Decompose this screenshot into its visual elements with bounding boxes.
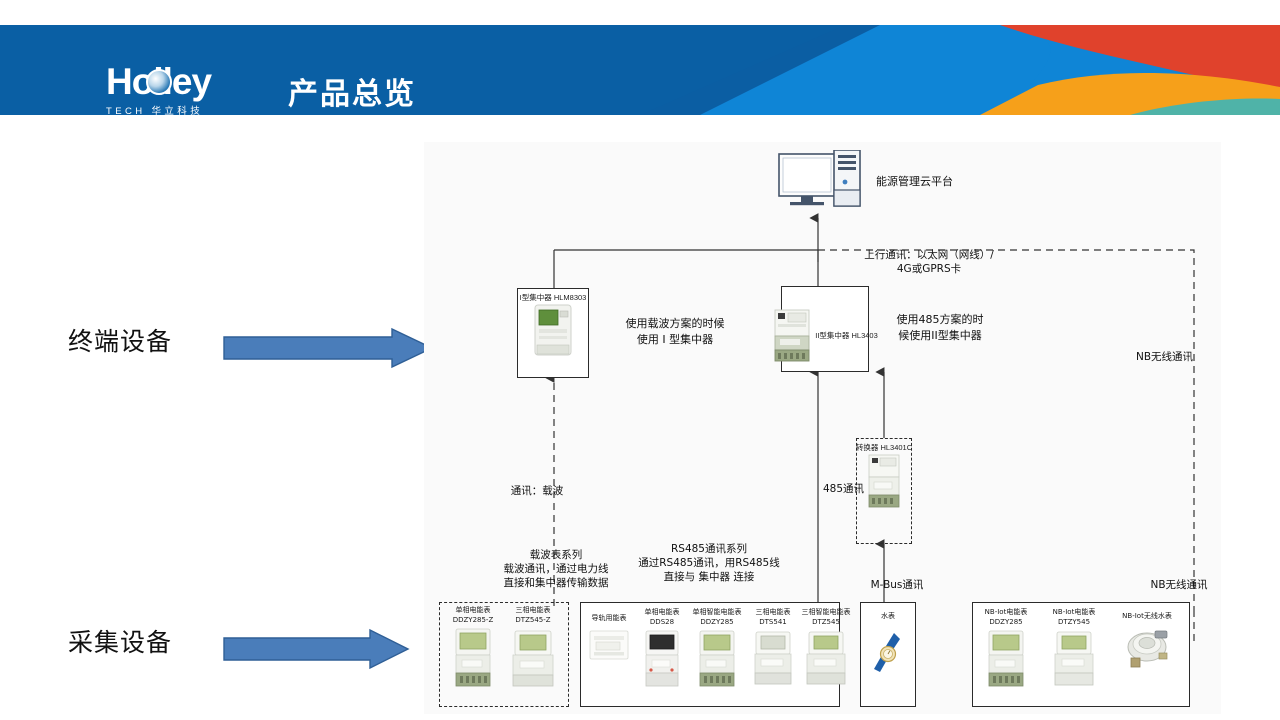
connection-label-nb-lower: NB无线通讯 — [1124, 578, 1234, 592]
meter-label: NB-Iot电能表 DTZY545 — [1053, 608, 1096, 627]
arrow-terminal-equipment — [222, 327, 436, 369]
concentrator-type2-caption: II型集中器 HL3403 — [815, 331, 878, 341]
three-phase-meter-icon — [805, 630, 847, 686]
logo-tagline: TECH 华立科技 — [106, 103, 266, 115]
meter-label: 三相智能电能表 DTZ545 — [802, 608, 851, 627]
converter-caption: 转换器 HL3401C — [856, 439, 912, 453]
single-phase-meter-dark-icon — [643, 630, 681, 688]
cloud-platform-node — [774, 150, 864, 223]
meter-label: 单相电能表 DDZY285-Z — [453, 606, 494, 625]
holley-logo: Holley TECH 华立科技 — [106, 64, 266, 115]
connection-label-carrier: 通讯：载波 — [482, 484, 592, 498]
three-phase-meter-icon — [753, 630, 793, 686]
meter-item[interactable]: 三相电能表 DTZ545-Z — [504, 606, 562, 688]
arrow-collection-equipment — [222, 628, 412, 670]
architecture-diagram: 能源管理云平台 上行通讯：以太网（网线）/ 4G或GPRS卡 I型集中器 HLM… — [424, 142, 1221, 714]
meter-item[interactable]: 三相电能表 DTS541 — [748, 608, 798, 686]
connection-label-nb-upper: NB无线通讯 — [1136, 350, 1246, 364]
nb-water-meter-icon — [1119, 625, 1175, 669]
meter-label: 导轨用能表 — [592, 614, 627, 624]
meter-label: NB-Iot电能表 DDZY285 — [985, 608, 1028, 627]
meter-item[interactable]: 水表 — [862, 612, 914, 681]
three-phase-meter-icon — [1053, 630, 1095, 688]
concentrator2-device-icon — [772, 308, 812, 364]
meter-item[interactable]: 单相电能表 DDS28 — [636, 608, 688, 688]
logo-sphere-icon — [146, 69, 172, 95]
connection-label-485: 485通讯 — [754, 482, 864, 496]
logo-wordmark: Holley — [106, 64, 266, 100]
page-header: Holley TECH 华立科技 产品总览 — [0, 25, 1280, 115]
single-phase-meter-icon — [986, 630, 1026, 688]
meter-label: 三相电能表 DTZ545-Z — [515, 606, 550, 625]
meter-item[interactable]: NB-Iot电能表 DDZY285 — [976, 608, 1036, 688]
meter-label: 单相智能电能表 DDZY285 — [693, 608, 742, 627]
connection-label-mbus: M-Bus通讯 — [842, 578, 952, 592]
meter-item[interactable]: NB-Iot电能表 DTZY545 — [1044, 608, 1104, 688]
uplink-communication-label: 上行通讯：以太网（网线）/ 4G或GPRS卡 — [814, 248, 1044, 276]
din-rail-meter-icon — [588, 627, 630, 667]
concentrator-type1-note: 使用载波方案的时候 使用 I 型集中器 — [600, 316, 750, 348]
meter-item[interactable]: 单相智能电能表 DDZY285 — [688, 608, 746, 688]
slide-page: Holley TECH 华立科技 产品总览 终端设备 采集设备 — [0, 0, 1280, 720]
section-label-terminal-equipment: 终端设备 — [68, 322, 172, 358]
meter-item[interactable]: 单相电能表 DDZY285-Z — [444, 606, 502, 688]
concentrator-type2-node[interactable]: II型集中器 HL3403 — [781, 286, 869, 372]
water-meter-icon — [868, 625, 908, 681]
meter-label: 三相电能表 DTS541 — [756, 608, 791, 627]
concentrator-type1-caption: I型集中器 HLM8303 — [520, 289, 587, 303]
meter-item[interactable]: 导轨用能表 — [584, 614, 634, 667]
single-phase-meter-icon — [697, 630, 737, 688]
cloud-platform-label: 能源管理云平台 — [876, 174, 1006, 190]
page-title: 产品总览 — [288, 69, 416, 113]
meter-label: NB-Iot无线水表 — [1122, 612, 1172, 622]
three-phase-meter-icon — [511, 628, 555, 688]
meter-item[interactable]: NB-Iot无线水表 — [1114, 612, 1180, 669]
concentrator-type1-node[interactable]: I型集中器 HLM8303 — [517, 288, 589, 378]
meter-item[interactable]: 三相智能电能表 DTZ545 — [798, 608, 854, 686]
desktop-computer-icon — [774, 150, 864, 218]
single-phase-meter-icon — [453, 628, 493, 688]
section-label-collection-equipment: 采集设备 — [68, 623, 172, 659]
converter-device-icon — [866, 453, 902, 515]
converter-node[interactable]: 转换器 HL3401C — [856, 438, 912, 544]
meter-label: 单相电能表 DDS28 — [645, 608, 680, 627]
meter-label: 水表 — [881, 612, 895, 622]
concentrator-type2-note: 使用485方案的时 候使用II型集中器 — [876, 312, 1004, 344]
group-title-rs485-series: RS485通讯系列 通过RS485通讯，用RS485线 直接与 集中器 连接 — [594, 542, 824, 584]
concentrator-device-icon — [531, 303, 575, 361]
